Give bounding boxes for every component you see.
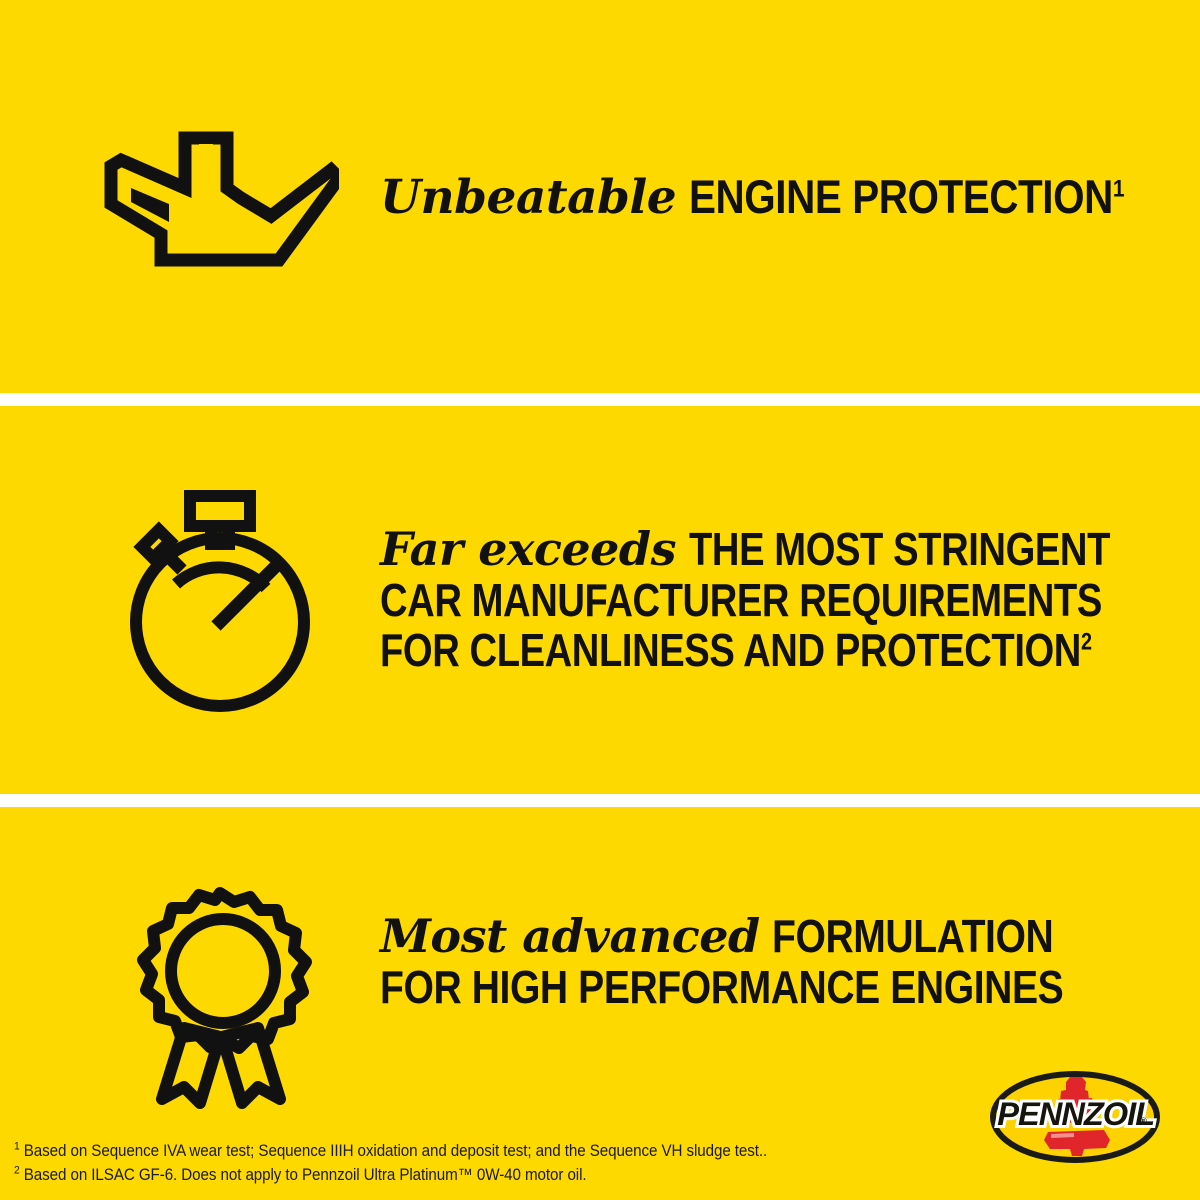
registered-mark: ® (1140, 1116, 1147, 1126)
oil-can-icon (60, 126, 380, 268)
headline-line: Unbeatable ENGINE PROTECTION1 (380, 173, 1200, 221)
panel-divider (0, 393, 1200, 406)
panel-divider (0, 794, 1200, 807)
headline-italic: Most advanced (380, 909, 760, 963)
headline-bold: FOR CLEANLINESS AND PROTECTION2 (380, 625, 1092, 676)
award-ribbon-icon (60, 885, 380, 1111)
footnote-ref: 1 (1113, 175, 1124, 202)
headline-italic: Far exceeds (380, 522, 676, 576)
stopwatch-icon (60, 488, 380, 712)
headline-panel-1: Unbeatable ENGINE PROTECTION1 (380, 173, 1200, 221)
benefit-panel-manufacturer-requirements: Far exceeds THE MOST STRINGENT CAR MANUF… (0, 406, 1200, 794)
headline-line: FOR CLEANLINESS AND PROTECTION2 (380, 625, 1200, 676)
headline-bold: THE MOST STRINGENT (689, 524, 1110, 575)
logo-wordmark: PENNZOIL (997, 1096, 1154, 1132)
promo-board: Unbeatable ENGINE PROTECTION1 (0, 0, 1200, 1200)
footnote-item: 1 Based on Sequence IVA wear test; Seque… (14, 1139, 767, 1164)
headline-italic: Unbeatable (380, 170, 676, 225)
headline-line: Far exceeds THE MOST STRINGENT (380, 524, 1200, 575)
footnote-marker: 1 (14, 1140, 20, 1152)
headline-bold: ENGINE PROTECTION1 (689, 173, 1124, 220)
footnote-ref: 2 (1081, 629, 1092, 656)
headline-panel-2: Far exceeds THE MOST STRINGENT CAR MANUF… (380, 524, 1200, 676)
headline-panel-3: Most advanced FORMULATION FOR HIGH PERFO… (380, 911, 1200, 1012)
benefit-panel-engine-protection: Unbeatable ENGINE PROTECTION1 (0, 0, 1200, 393)
footnote-marker: 2 (14, 1165, 20, 1177)
footnotes: 1 Based on Sequence IVA wear test; Seque… (14, 1139, 767, 1189)
headline-line: FOR HIGH PERFORMANCE ENGINES (380, 962, 1200, 1013)
headline-bold: CAR MANUFACTURER REQUIREMENTS (380, 575, 1102, 626)
pennzoil-logo: PENNZOIL PENNZOIL ® (988, 1070, 1162, 1164)
footnote-item: 2 Based on ILSAC GF-6. Does not apply to… (14, 1163, 767, 1188)
footnote-text: Based on ILSAC GF-6. Does not apply to P… (24, 1166, 587, 1184)
headline-bold: FORMULATION (772, 911, 1053, 962)
headline-line: Most advanced FORMULATION (380, 911, 1200, 962)
footnote-text: Based on Sequence IVA wear test; Sequenc… (24, 1142, 767, 1160)
headline-bold: FOR HIGH PERFORMANCE ENGINES (380, 962, 1063, 1013)
headline-line: CAR MANUFACTURER REQUIREMENTS (380, 575, 1200, 626)
